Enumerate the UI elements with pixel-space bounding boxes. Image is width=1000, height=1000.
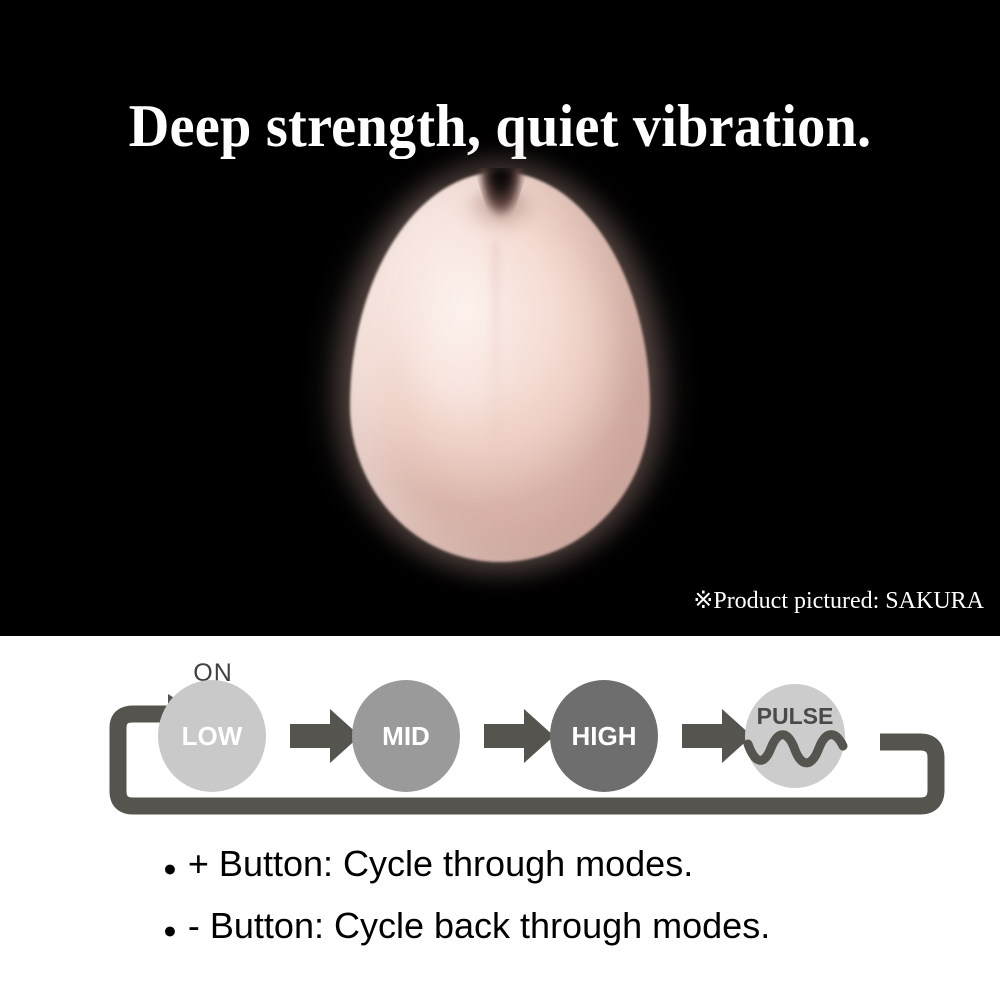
mode-node-pulse[interactable]: PULSE <box>745 684 845 788</box>
hero-panel: Deep strength, quiet vibration. ※Product… <box>0 0 1000 636</box>
arrow-low-to-mid <box>290 709 360 763</box>
instructions-list: ● + Button: Cycle through modes. ● - But… <box>0 842 1000 966</box>
bullet-marker: ● <box>163 908 177 952</box>
product-caption: ※Product pictured: SAKURA <box>693 587 984 615</box>
arrow-high-to-pulse <box>682 709 752 763</box>
mode-node-mid-label: MID <box>382 721 430 751</box>
list-item: ● - Button: Cycle back through modes. <box>0 904 1000 952</box>
mode-node-high-label: HIGH <box>572 721 637 751</box>
list-item-label: + Button: Cycle through modes. <box>188 842 693 886</box>
list-item-label: - Button: Cycle back through modes. <box>188 904 770 948</box>
mode-cycle-diagram: LOW MID HIGH <box>0 636 1000 836</box>
mode-node-low-label: LOW <box>182 721 243 751</box>
bullet-marker: ● <box>163 846 177 890</box>
modes-panel: ON LOW <box>0 636 1000 1000</box>
mode-node-high[interactable]: HIGH <box>550 680 658 792</box>
product-seam <box>493 242 498 542</box>
mode-node-mid[interactable]: MID <box>352 680 460 792</box>
mode-node-low[interactable]: LOW <box>158 680 266 792</box>
list-item: ● + Button: Cycle through modes. <box>0 842 1000 890</box>
mode-node-pulse-label: PULSE <box>757 703 834 729</box>
product-image <box>315 150 685 580</box>
arrow-mid-to-high <box>484 709 554 763</box>
promo-page: Deep strength, quiet vibration. ※Product… <box>0 0 1000 1000</box>
